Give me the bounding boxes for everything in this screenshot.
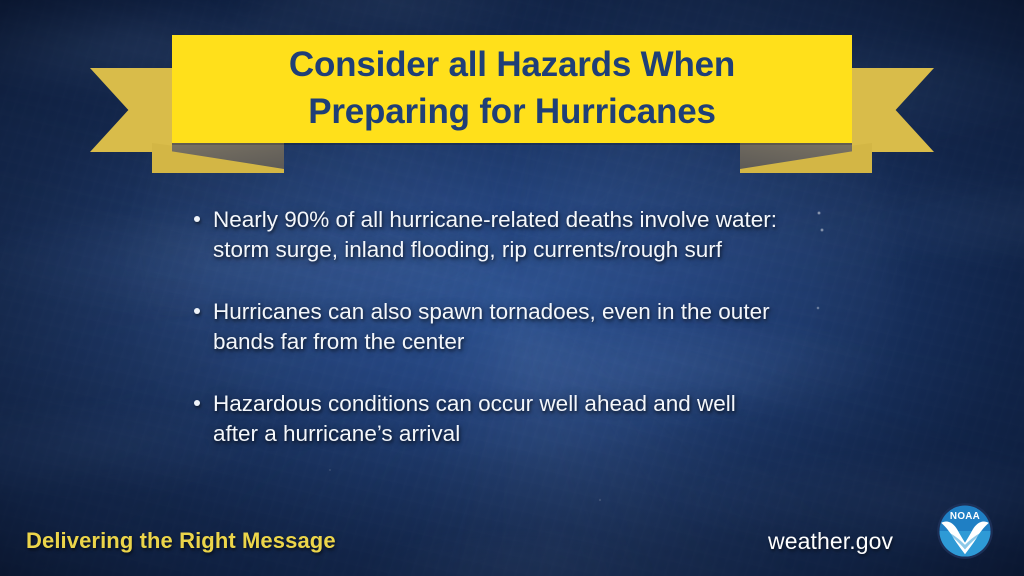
list-item-line-2: storm surge, inland flooding, rip curren… <box>213 235 889 265</box>
bullet-dot-icon <box>194 308 200 314</box>
noaa-logo-icon: NOAA <box>936 502 994 560</box>
footer-website-url: weather.gov <box>768 528 893 555</box>
noaa-logo-text: NOAA <box>950 511 980 522</box>
slide-canvas: Consider all Hazards When Preparing for … <box>0 0 1024 576</box>
footer-tagline: Delivering the Right Message <box>26 528 336 554</box>
page-title: Consider all Hazards When Preparing for … <box>172 35 852 143</box>
title-ribbon-banner: Consider all Hazards When Preparing for … <box>0 0 1024 185</box>
list-item: Hurricanes can also spawn tornadoes, eve… <box>189 297 889 358</box>
list-item-line-1: Hurricanes can also spawn tornadoes, eve… <box>213 297 889 327</box>
list-item: Nearly 90% of all hurricane-related deat… <box>189 205 889 266</box>
list-item: Hazardous conditions can occur well ahea… <box>189 389 889 450</box>
list-item-line-1: Nearly 90% of all hurricane-related deat… <box>213 205 889 235</box>
page-title-line-1: Consider all Hazards When <box>289 42 735 89</box>
bullet-list: Nearly 90% of all hurricane-related deat… <box>189 205 889 449</box>
bullet-dot-icon <box>194 216 200 222</box>
bullet-dot-icon <box>194 400 200 406</box>
page-title-line-2: Preparing for Hurricanes <box>308 89 716 136</box>
list-item-line-2: bands far from the center <box>213 327 889 357</box>
list-item-line-2: after a hurricane’s arrival <box>213 419 889 449</box>
list-item-line-1: Hazardous conditions can occur well ahea… <box>213 389 889 419</box>
